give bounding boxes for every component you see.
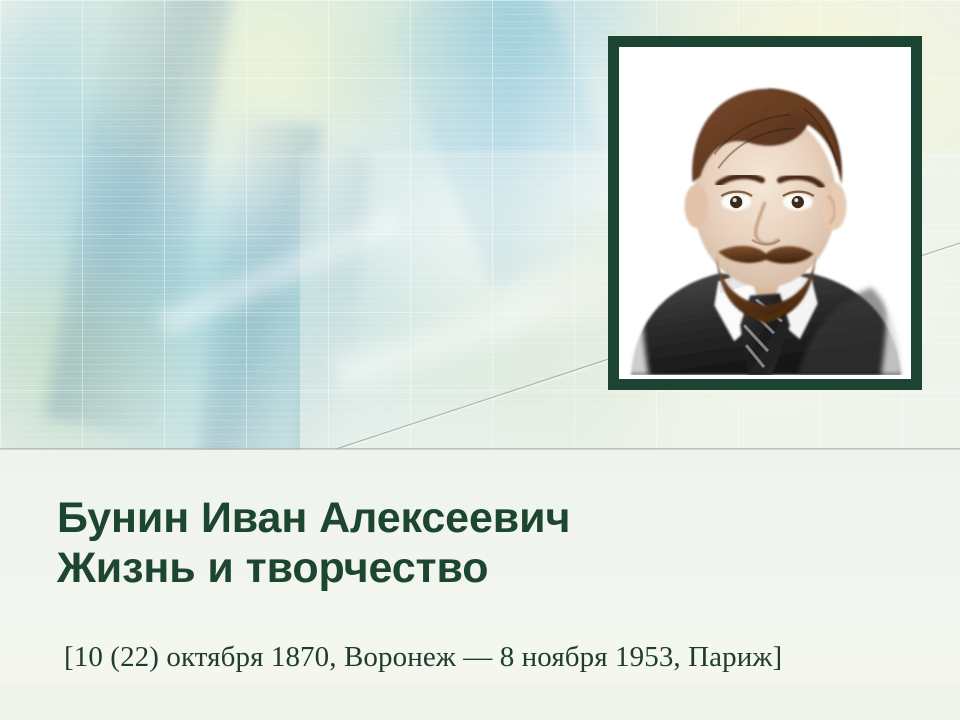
page-title: Бунин Иван Алексеевич Жизнь и творчество: [57, 493, 877, 593]
portrait-photo-icon: [623, 51, 907, 375]
presentation-slide: Бунин Иван Алексеевич Жизнь и творчество…: [0, 0, 960, 720]
title-block: Бунин Иван Алексеевич Жизнь и творчество: [57, 493, 877, 593]
slide-subtitle: [10 (22) октября 1870, Воронеж — 8 ноябр…: [64, 639, 894, 675]
portrait-frame: [608, 36, 922, 390]
